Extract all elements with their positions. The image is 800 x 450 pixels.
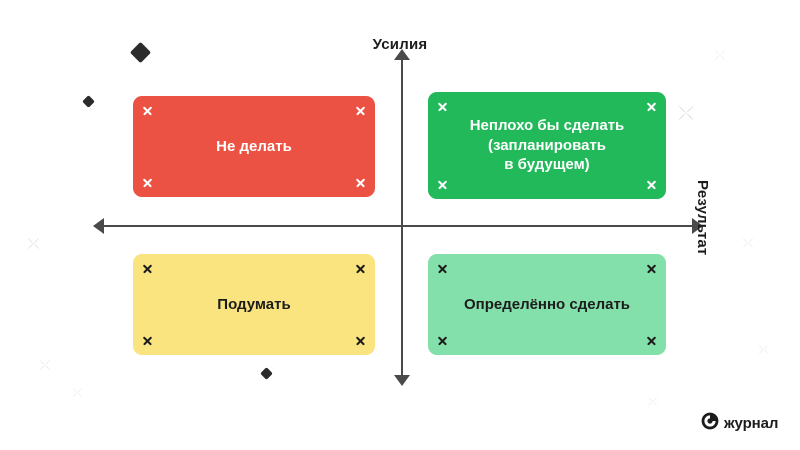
close-icon	[646, 179, 657, 190]
quadrant-label: Неплохо бы сделать (запланировать в буду…	[470, 116, 625, 176]
quadrant-plan-for-later[interactable]: Неплохо бы сделать (запланировать в буду…	[428, 92, 666, 199]
quadrant-label: Определённо сделать	[464, 295, 630, 315]
matrix-diagram-canvas: Усилия Результат Не делать Неплохо бы сд…	[0, 0, 800, 450]
diamond-icon	[82, 95, 95, 108]
quadrant-definitely-do[interactable]: Определённо сделать	[428, 254, 666, 355]
close-icon	[437, 179, 448, 190]
diamond-icon	[260, 367, 273, 380]
sparkle-icon	[646, 395, 659, 408]
quadrant-label-line: (запланировать	[488, 137, 606, 154]
horizontal-axis-line	[103, 225, 693, 227]
journal-eye-logo-icon	[701, 412, 719, 435]
close-icon	[142, 263, 153, 274]
journal-logo: журнал	[701, 412, 778, 435]
x-axis-title: Результат	[694, 180, 711, 255]
close-icon	[646, 335, 657, 346]
sparkle-icon	[713, 48, 727, 62]
close-icon	[437, 335, 448, 346]
journal-logo-text: журнал	[724, 415, 778, 432]
close-icon	[355, 335, 366, 346]
sparkle-icon	[71, 386, 84, 399]
close-icon	[142, 105, 153, 116]
close-icon	[437, 263, 448, 274]
vertical-axis-line	[401, 58, 403, 378]
quadrant-label: Не делать	[216, 137, 292, 157]
close-icon	[646, 263, 657, 274]
arrow-down-icon	[394, 375, 410, 386]
sparkle-icon	[38, 358, 52, 372]
close-icon	[142, 335, 153, 346]
sparkle-icon	[26, 236, 41, 251]
close-icon	[437, 101, 448, 112]
sparkle-icon	[676, 103, 696, 123]
quadrant-label-line: в будущем)	[504, 156, 589, 173]
sparkle-icon	[741, 236, 755, 250]
close-icon	[355, 105, 366, 116]
quadrant-label-line: Неплохо бы сделать	[470, 117, 625, 134]
arrow-left-icon	[93, 218, 104, 234]
close-icon	[142, 177, 153, 188]
close-icon	[355, 177, 366, 188]
quadrant-do-not-do[interactable]: Не делать	[133, 96, 375, 197]
quadrant-think-about-it[interactable]: Подумать	[133, 254, 375, 355]
close-icon	[646, 101, 657, 112]
y-axis-title: Усилия	[0, 36, 800, 53]
close-icon	[355, 263, 366, 274]
quadrant-label: Подумать	[217, 295, 290, 315]
sparkle-icon	[757, 343, 770, 356]
